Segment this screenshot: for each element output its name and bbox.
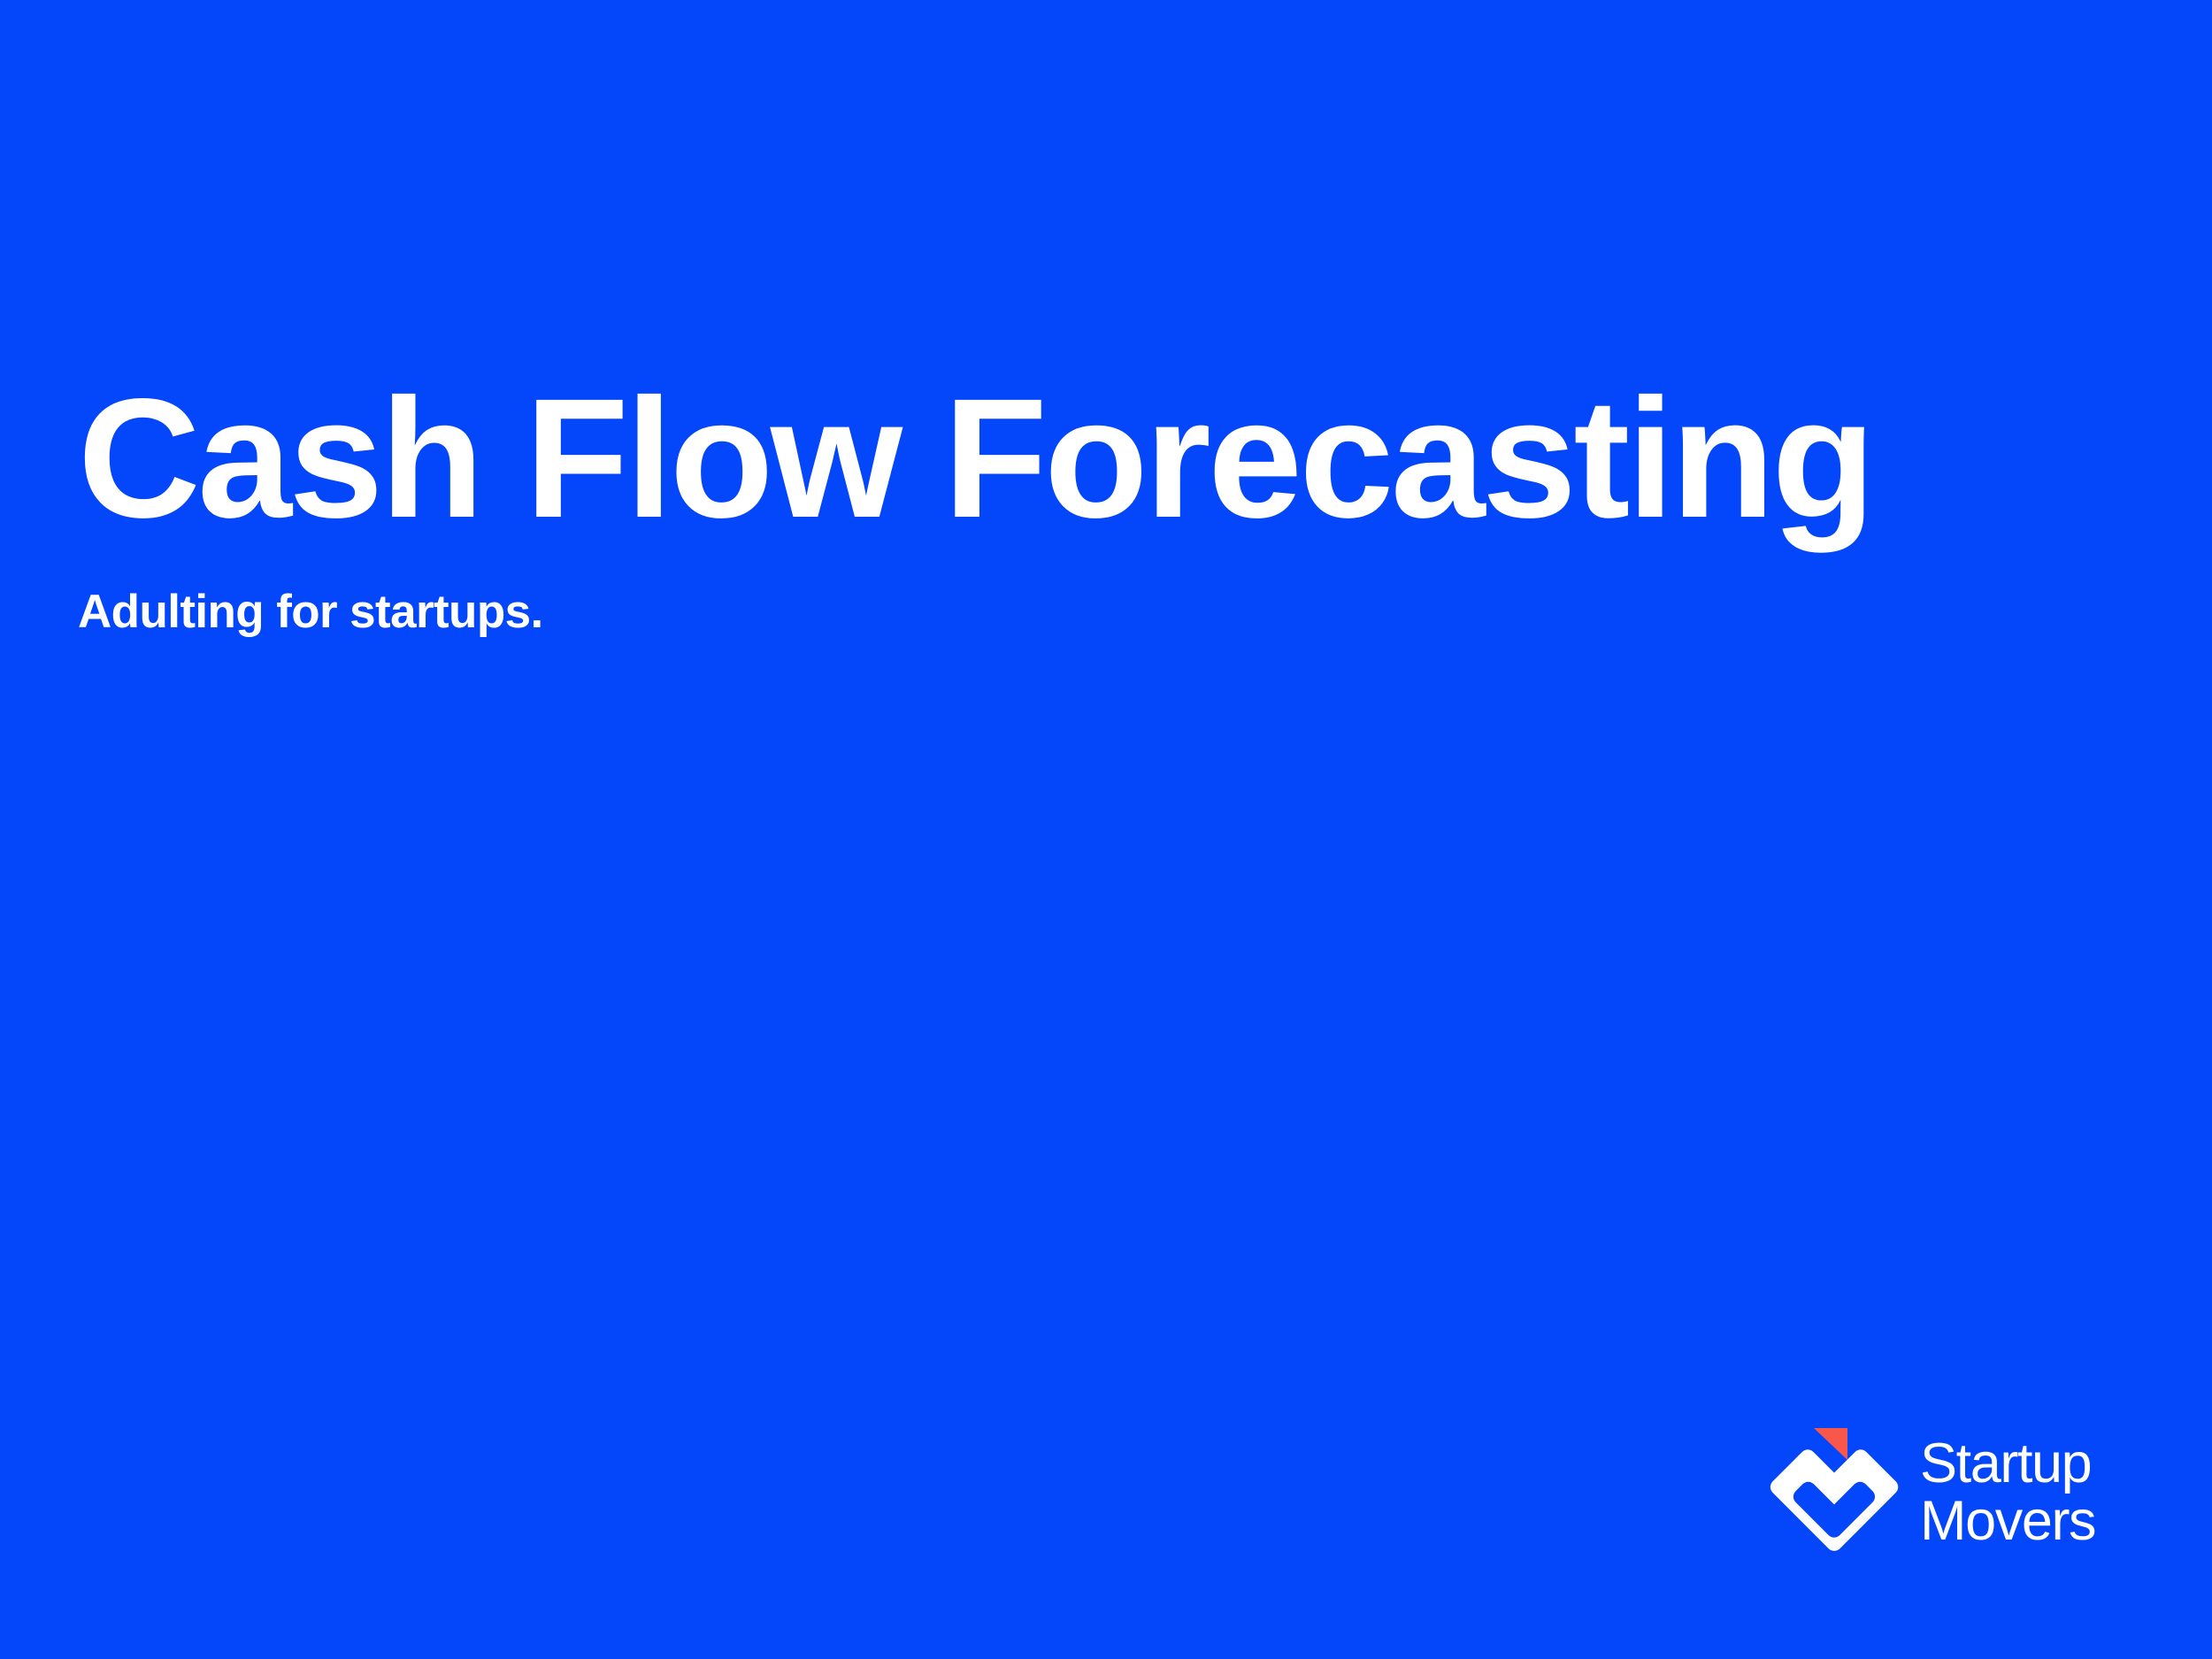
startup-movers-diamond-icon — [1764, 1421, 1904, 1561]
logo-word-startup: Startup — [1920, 1435, 2095, 1493]
slide-canvas: Cash Flow Forecasting Adulting for start… — [0, 0, 2212, 1659]
accent-triangle-icon — [1814, 1428, 1847, 1460]
page-subtitle: Adulting for startups. — [78, 545, 2024, 640]
logo-word-movers: Movers — [1920, 1493, 2095, 1550]
brand-logo: Startup Movers — [1764, 1421, 2095, 1561]
headline-block: Cash Flow Forecasting Adulting for start… — [78, 372, 2024, 640]
page-title: Cash Flow Forecasting — [78, 372, 2024, 545]
logo-wordmark: Startup Movers — [1920, 1432, 2095, 1550]
